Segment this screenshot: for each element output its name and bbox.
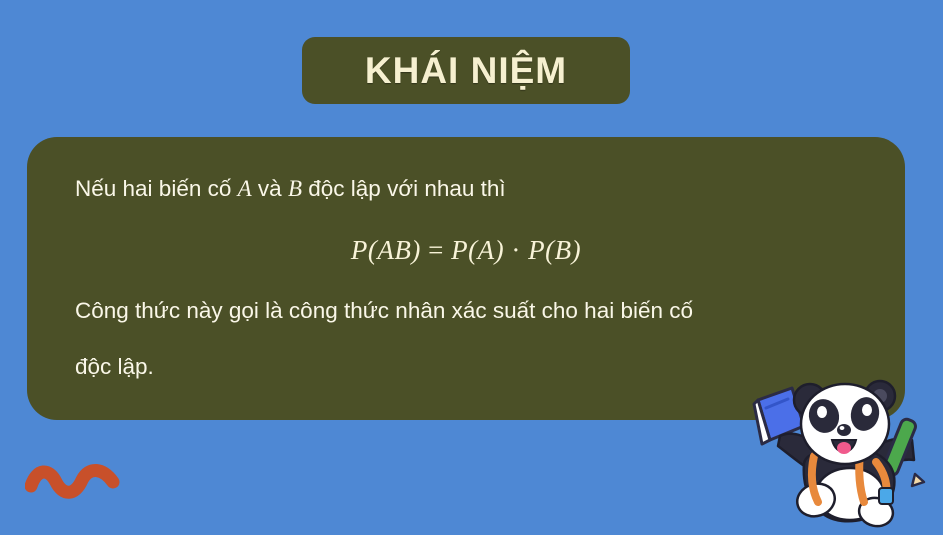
variable-a: A — [238, 176, 252, 201]
definition-prefix: Nếu hai biến cố — [75, 176, 238, 201]
variable-b: B — [288, 176, 302, 201]
definition-line: Nếu hai biến cố A và B độc lập với nhau … — [75, 177, 857, 201]
formula-rhs-second: P(B) — [528, 235, 581, 265]
formula-equals: = — [421, 235, 451, 265]
panda-right-eye-highlight — [862, 404, 872, 416]
formula-rhs-first: P(A) — [451, 235, 504, 265]
formula-dot-operator: · — [504, 235, 528, 265]
panda-tongue — [837, 442, 851, 454]
conclusion-line-2: độc lập. — [75, 354, 857, 380]
formula-lhs: P(AB) — [351, 235, 421, 265]
definition-suffix: độc lập với nhau thì — [302, 176, 506, 201]
backpack-buckle — [879, 488, 893, 504]
panda-left-eye-highlight — [817, 406, 827, 418]
squiggle-decoration-icon — [25, 462, 120, 500]
panda-mascot-icon — [752, 378, 942, 535]
slide-canvas: KHÁI NIỆM Nếu hai biến cố A và B độc lập… — [0, 0, 943, 535]
panda-nose-highlight — [840, 426, 845, 430]
formula-row: P(AB) = P(A) · P(B) — [75, 235, 857, 266]
definition-conjunction: và — [252, 176, 288, 201]
title-banner: KHÁI NIỆM — [302, 37, 630, 104]
page-title: KHÁI NIỆM — [365, 52, 567, 89]
probability-formula: P(AB) = P(A) · P(B) — [351, 235, 581, 265]
conclusion-line-1: Công thức này gọi là công thức nhân xác … — [75, 298, 857, 324]
panda-nose — [837, 424, 851, 436]
